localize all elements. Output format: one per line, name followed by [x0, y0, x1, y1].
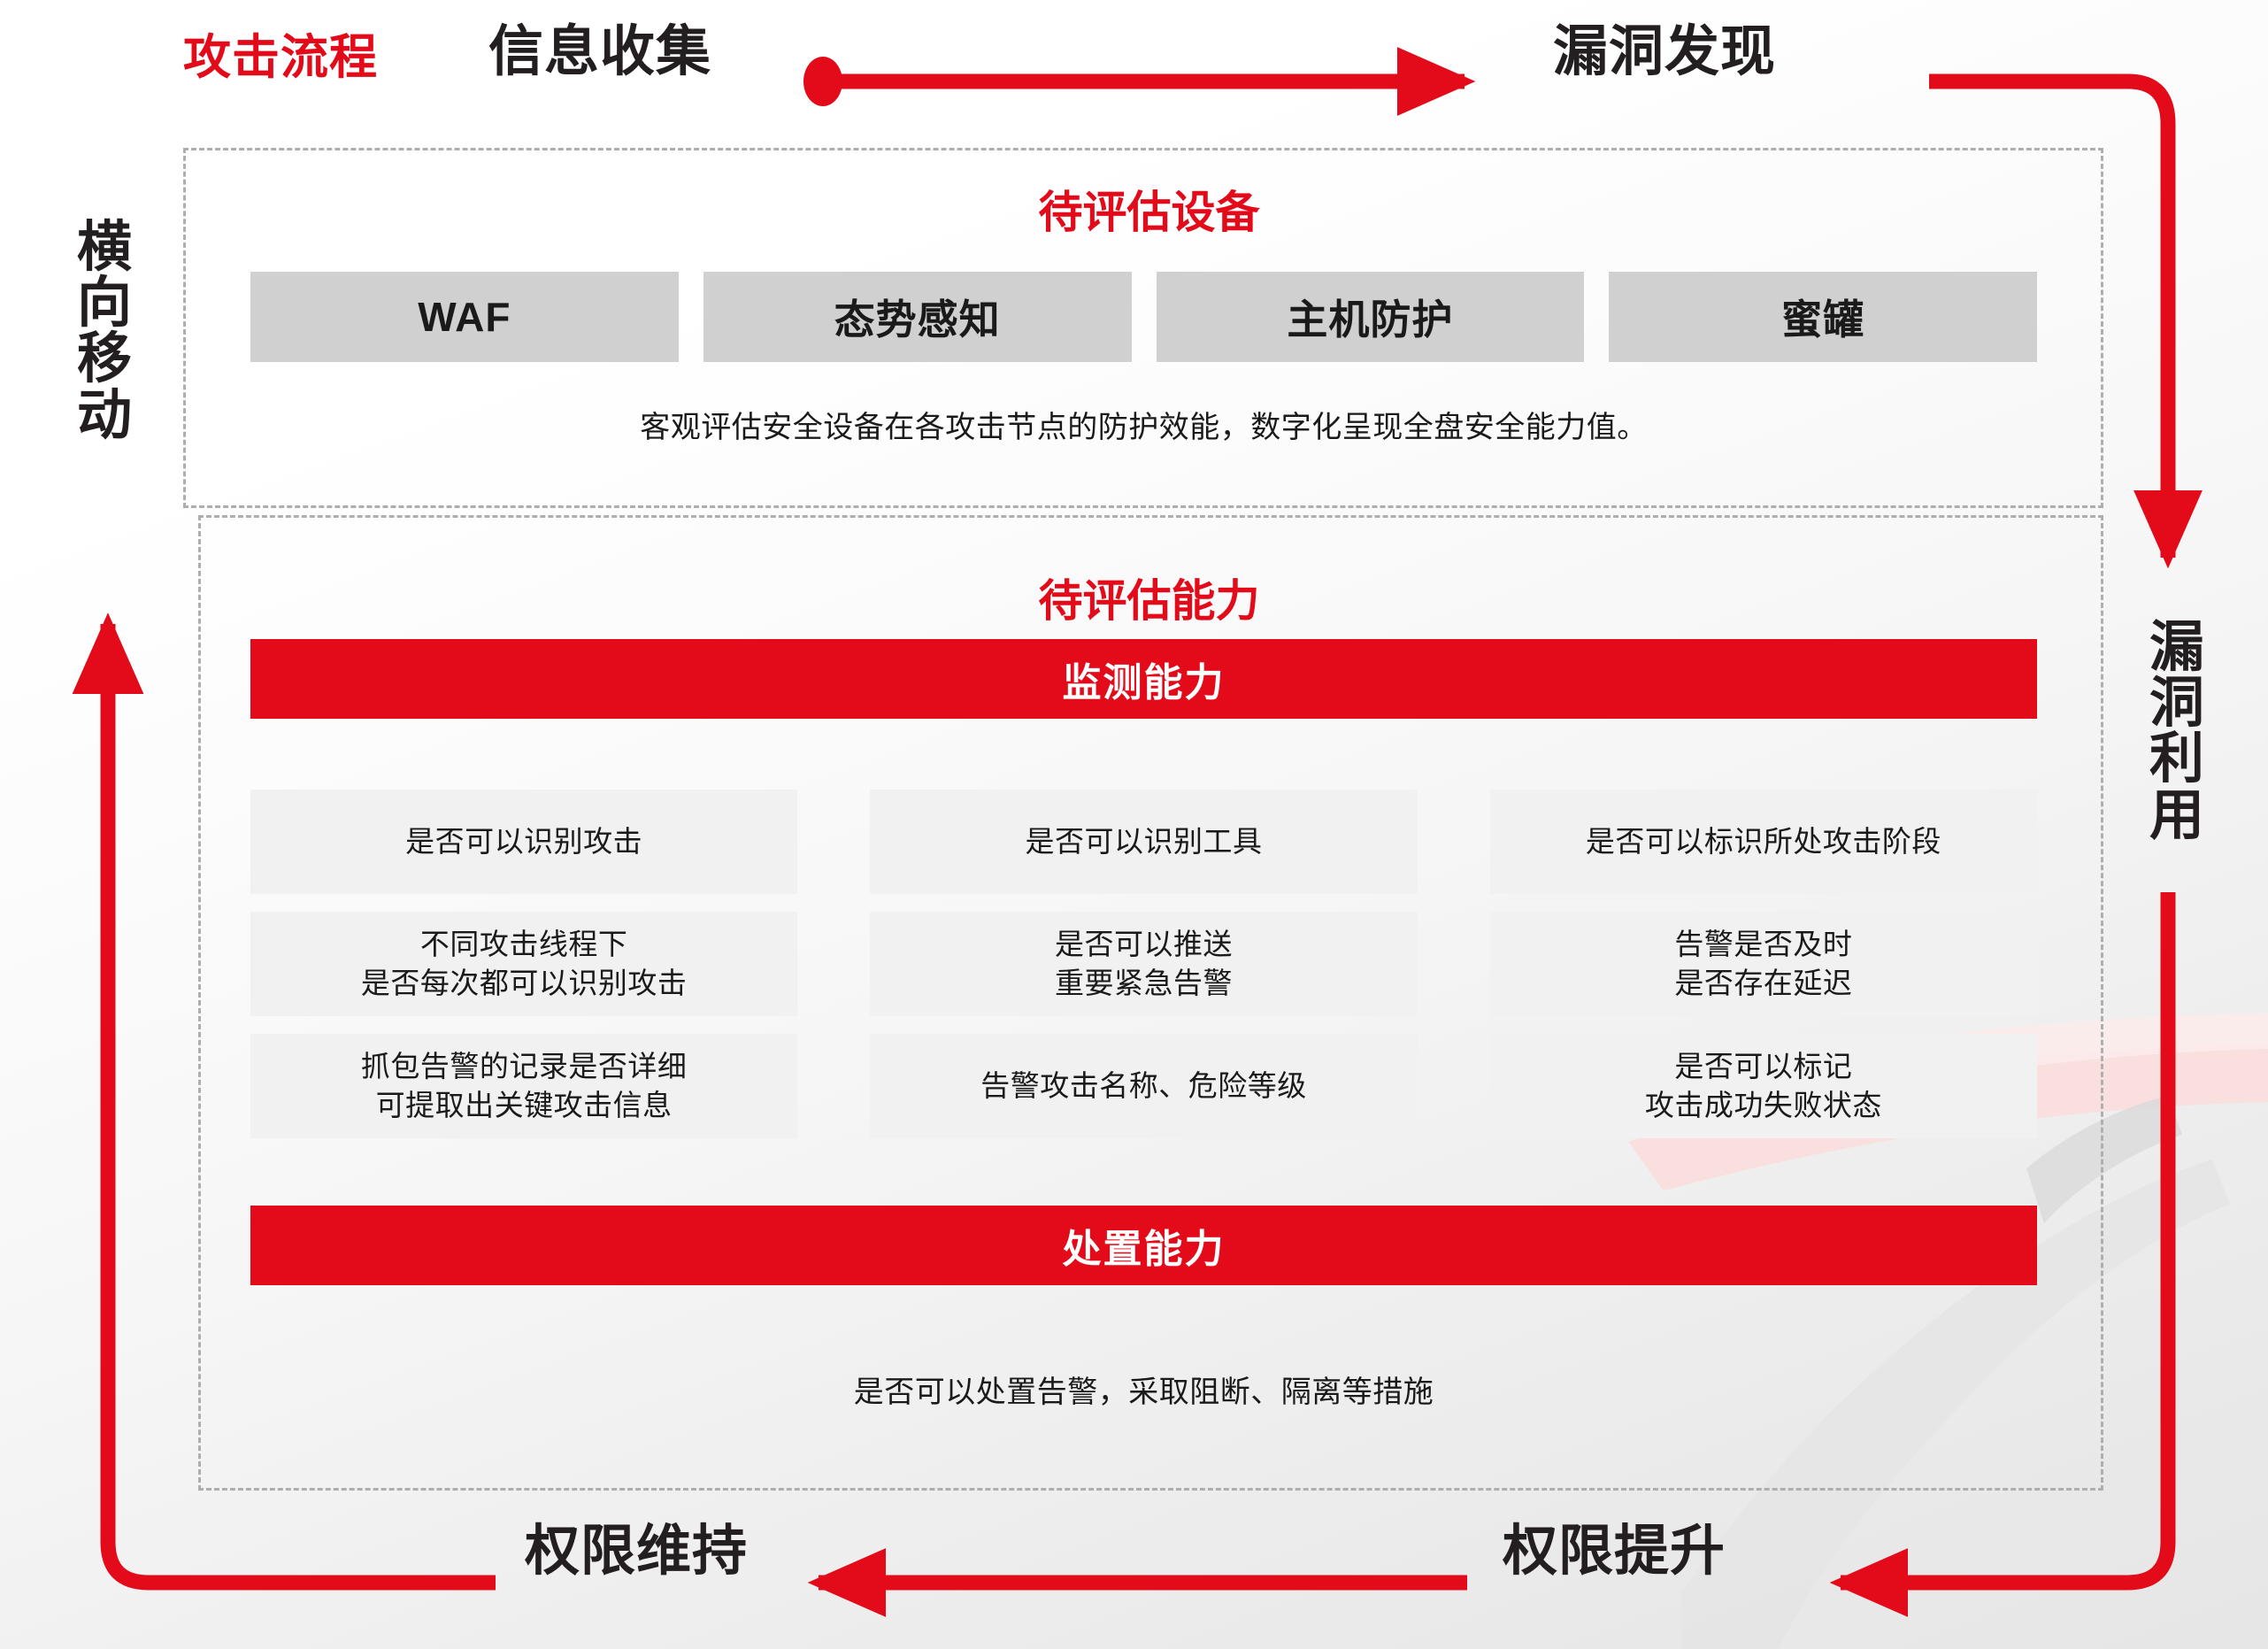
capability-item[interactable]: 是否可以推送 重要紧急告警: [870, 912, 1417, 1016]
capability-line: 告警攻击名称、危险等级: [980, 1067, 1307, 1106]
attack-flow-label: 攻击流程: [183, 34, 378, 81]
stage-vuln-exploitation: 漏 洞 利 用: [2141, 620, 2212, 844]
exploit-char-3: 用: [2141, 788, 2212, 844]
stage-lateral-movement: 横 向 移 动: [69, 220, 140, 443]
flow-start-dot: [803, 57, 842, 106]
device-box-host-protection[interactable]: 主机防护: [1157, 272, 1585, 362]
exploit-char-0: 漏: [2141, 620, 2212, 675]
capability-line: 不同攻击线程下: [361, 925, 688, 964]
stage-info-gathering: 信息收集: [488, 25, 711, 80]
capability-item[interactable]: 是否可以标识所处攻击阶段: [1490, 790, 2037, 894]
monitor-capability-banner: 监测能力: [250, 639, 2037, 719]
stage-privilege-escalation: 权限提升: [1503, 1524, 1726, 1579]
stage-persistence: 权限维持: [525, 1524, 748, 1579]
capability-line: 是否可以标识所处攻击阶段: [1586, 822, 1941, 861]
capability-line: 抓包告警的记录是否详细: [361, 1047, 688, 1086]
capability-line: 是否可以标记: [1645, 1047, 1882, 1086]
capability-item[interactable]: 不同攻击线程下 是否每次都可以识别攻击: [250, 912, 797, 1016]
capabilities-panel-title: 待评估能力: [15, 579, 2268, 623]
dispose-capability-banner: 处置能力: [250, 1206, 2037, 1285]
capability-item[interactable]: 是否可以标记 攻击成功失败状态: [1490, 1034, 2037, 1138]
capability-line: 是否存在延迟: [1674, 964, 1852, 1003]
exploit-char-1: 洞: [2141, 675, 2212, 731]
capability-line: 是否每次都可以识别攻击: [361, 964, 688, 1003]
capability-item[interactable]: 告警攻击名称、危险等级: [870, 1034, 1417, 1138]
lateral-char-2: 移: [69, 331, 140, 387]
capability-line: 是否可以识别攻击: [405, 822, 642, 861]
capability-item-grid: 是否可以识别攻击 是否可以识别工具 是否可以标识所处攻击阶段 不同攻击线程下 是…: [250, 790, 2037, 1138]
capability-line: 可提取出关键攻击信息: [361, 1086, 688, 1125]
capability-line: 重要紧急告警: [1055, 964, 1233, 1003]
capability-item[interactable]: 是否可以识别攻击: [250, 790, 797, 894]
capability-item[interactable]: 是否可以识别工具: [870, 790, 1417, 894]
capability-line: 是否可以推送: [1055, 925, 1233, 964]
diagram-canvas: 攻击流程 信息收集 漏洞发现 横 向 移 动 漏 洞 利 用 权限维持 权限提升…: [0, 0, 2268, 1649]
device-box-honeypot[interactable]: 蜜罐: [1609, 272, 2037, 362]
exploit-char-2: 利: [2141, 731, 2212, 787]
capability-line: 告警是否及时: [1674, 925, 1852, 964]
lateral-char-3: 动: [69, 388, 140, 443]
capability-line: 是否可以识别工具: [1025, 822, 1262, 861]
device-box-situational-awareness[interactable]: 态势感知: [703, 272, 1132, 362]
lateral-char-1: 向: [69, 275, 140, 331]
device-box-waf[interactable]: WAF: [250, 272, 679, 362]
devices-panel-title: 待评估设备: [15, 190, 2268, 235]
capability-item[interactable]: 告警是否及时 是否存在延迟: [1490, 912, 2037, 1016]
capability-item[interactable]: 抓包告警的记录是否详细 可提取出关键攻击信息: [250, 1034, 797, 1138]
stage-vuln-discovery: 漏洞发现: [1553, 25, 1776, 80]
capability-line: 攻击成功失败状态: [1645, 1086, 1882, 1125]
dispose-capability-description: 是否可以处置告警，采取阻断、隔离等措施: [250, 1368, 2037, 1411]
device-list: WAF 态势感知 主机防护 蜜罐: [250, 272, 2037, 362]
devices-panel-description: 客观评估安全设备在各攻击节点的防护效能，数字化呈现全盘安全能力值。: [250, 403, 2037, 446]
